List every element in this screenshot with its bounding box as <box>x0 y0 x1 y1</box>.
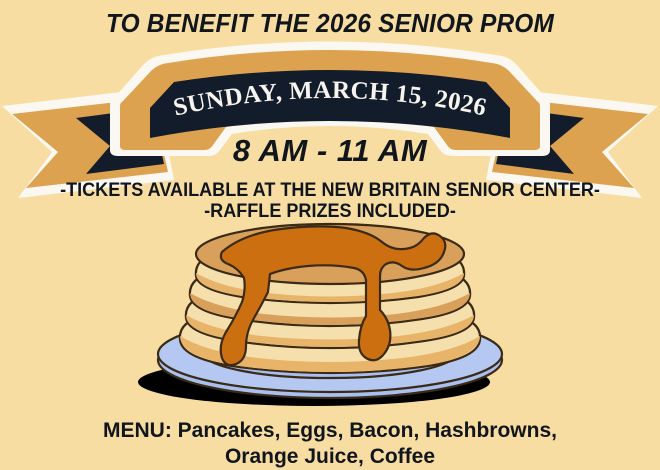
tickets-available-line: -TICKETS AVAILABLE AT THE NEW BRITAIN SE… <box>17 180 644 201</box>
event-time: 8 AM - 11 AM <box>0 133 660 169</box>
menu-text: MENU: Pancakes, Eggs, Bacon, Hashbrowns,… <box>0 418 660 470</box>
ticket-info-block: -TICKETS AVAILABLE AT THE NEW BRITAIN SE… <box>17 180 644 222</box>
page-title: TO BENEFIT THE 2026 SENIOR PROM <box>20 8 640 39</box>
raffle-prizes-line: -RAFFLE PRIZES INCLUDED- <box>17 201 644 222</box>
pancake-stack-illustration <box>118 222 542 408</box>
flyer-canvas: TO BENEFIT THE 2026 SENIOR PROM <box>0 0 660 470</box>
